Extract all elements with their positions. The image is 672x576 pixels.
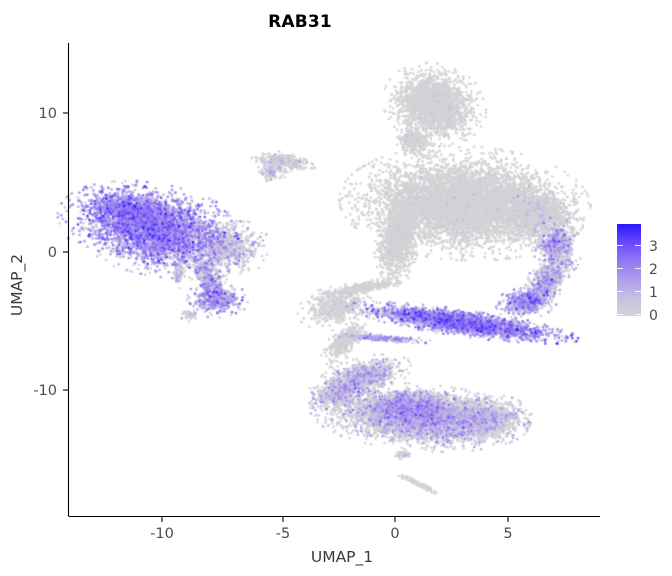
umap-feature-plot: RAB31 10 0 -10 UMAP_2 -10 -5 0 5 UMAP_1 [0,0,672,576]
scatter-plot-canvas [0,0,672,576]
